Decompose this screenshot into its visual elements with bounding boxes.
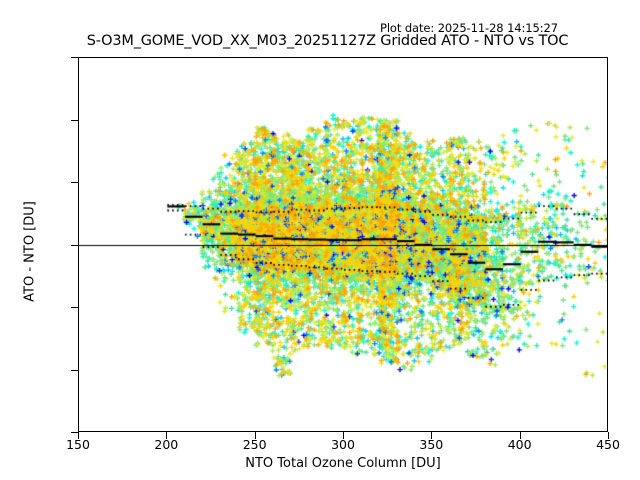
y-axis-label: ATO - NTO [DU] [23,142,38,362]
x-tick-label: 150 [43,437,113,452]
y-tick-mark [71,432,78,433]
y-tick-mark [71,182,78,183]
x-tick-label: 250 [220,437,290,452]
y-tick-mark [71,245,78,246]
y-tick-mark [71,307,78,308]
y-tick-mark [71,120,78,121]
x-tick-label: 450 [573,437,640,452]
figure-canvas: Plot date: 2025-11-28 14:15:27 S-O3M_GOM… [0,0,640,480]
y-tick-mark [71,370,78,371]
scatter-plot-canvas [79,58,608,432]
x-tick-label: 350 [396,437,466,452]
x-tick-label: 300 [308,437,378,452]
plot-axes-area: 2 201 775 1329 3254 5799 4764 4783 3890 … [78,57,608,432]
y-tick-mark [71,57,78,58]
x-tick-label: 400 [485,437,555,452]
chart-title: S-O3M_GOME_VOD_XX_M03_20251127Z Gridded … [40,33,615,49]
x-tick-label: 200 [131,437,201,452]
x-axis-label: NTO Total Ozone Column [DU] [78,456,608,471]
